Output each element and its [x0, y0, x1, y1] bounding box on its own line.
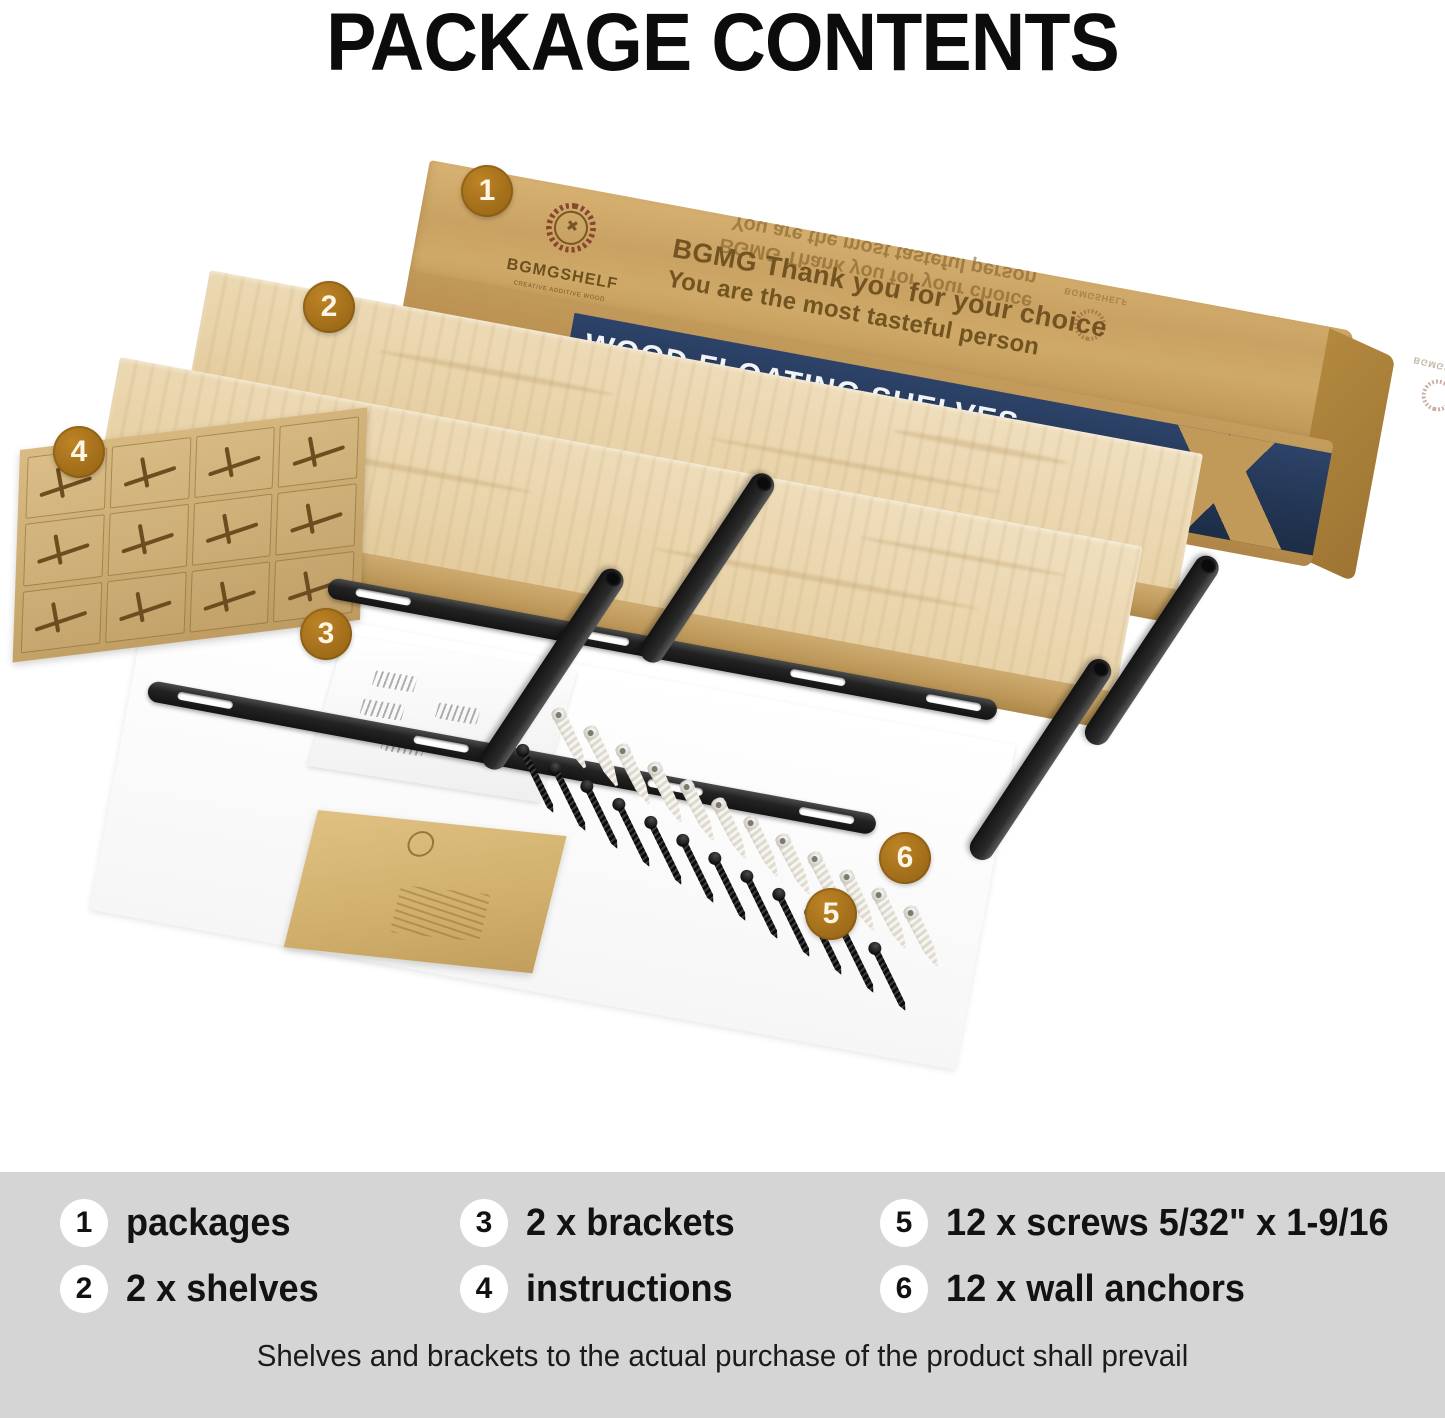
- legend-label-3: 2 x brackets: [526, 1202, 735, 1245]
- paper-diagram: [359, 699, 405, 721]
- legend-grid: 1 packages 3 2 x brackets 5 12 x screws …: [60, 1190, 1420, 1322]
- legend-item-3: 3 2 x brackets: [460, 1199, 880, 1247]
- legend-label-2: 2 x shelves: [126, 1268, 319, 1311]
- instruction-step-cell: [107, 504, 188, 576]
- callout-badge-1: 1: [461, 165, 513, 217]
- wood-grain: [859, 535, 1066, 578]
- bgmgshelf-logo-ghost-icon-b: BGMGSHELF: [1400, 354, 1445, 421]
- callout-badge-4: 4: [53, 426, 105, 478]
- legend-number-5: 5: [880, 1199, 928, 1247]
- paper-diagram: [435, 703, 481, 725]
- legend-item-6: 6 12 x wall anchors: [880, 1265, 1440, 1313]
- instruction-step-cell: [276, 484, 357, 556]
- card-logo-mark: [390, 885, 491, 941]
- legend-item-5: 5 12 x screws 5/32" x 1-9/16: [880, 1199, 1440, 1247]
- callout-badge-5: 5: [805, 888, 857, 940]
- legend-panel: 1 packages 3 2 x brackets 5 12 x screws …: [0, 1172, 1445, 1418]
- legend-number-4: 4: [460, 1265, 508, 1313]
- callout-badge-2: 2: [303, 281, 355, 333]
- legend-disclaimer: Shelves and brackets to the actual purch…: [36, 1338, 1409, 1374]
- callout-badge-3: 3: [300, 608, 352, 660]
- legend-number-3: 3: [460, 1199, 508, 1247]
- seal-icon: [405, 830, 437, 858]
- legend-label-5: 12 x screws 5/32" x 1-9/16: [946, 1202, 1389, 1245]
- legend-item-2: 2 2 x shelves: [60, 1265, 460, 1313]
- logo-wordmark-ghost: BGMGSHELF: [1410, 354, 1445, 380]
- legend-label-6: 12 x wall anchors: [946, 1268, 1245, 1311]
- callout-badge-6: 6: [879, 832, 931, 884]
- paper-diagram: [372, 670, 418, 692]
- legend-label-1: packages: [126, 1202, 291, 1245]
- legend-number-2: 2: [60, 1265, 108, 1313]
- instruction-step-cell: [194, 427, 275, 499]
- instruction-step-cell: [278, 416, 359, 488]
- instruction-step-cell: [189, 561, 270, 633]
- saw-blade-icon: [1418, 376, 1445, 415]
- instruction-step-cell: [105, 571, 186, 643]
- legend-item-1: 1 packages: [60, 1199, 460, 1247]
- wood-grain: [378, 348, 615, 398]
- legend-number-1: 1: [60, 1199, 108, 1247]
- page-title: PACKAGE CONTENTS: [58, 0, 1387, 90]
- crossed-tools-icon: ✖: [563, 218, 582, 237]
- legend-item-4: 4 instructions: [460, 1265, 880, 1313]
- instruction-step-cell: [23, 515, 104, 587]
- instruction-step-cell: [110, 437, 191, 509]
- product-photo-stage: ✖ BGMGSHELF CREATIVE ADDITIVE WOOD BGMGS…: [0, 95, 1445, 1170]
- legend-label-4: instructions: [526, 1268, 733, 1311]
- wood-grain: [892, 427, 1070, 467]
- instruction-step-cell: [191, 494, 272, 566]
- package-contents-infographic: PACKAGE CONTENTS ✖ BGMGSHELF CREATIVE AD…: [0, 0, 1445, 1418]
- thank-you-card: [284, 810, 567, 973]
- instruction-step-cell: [21, 582, 102, 654]
- legend-number-6: 6: [880, 1265, 928, 1313]
